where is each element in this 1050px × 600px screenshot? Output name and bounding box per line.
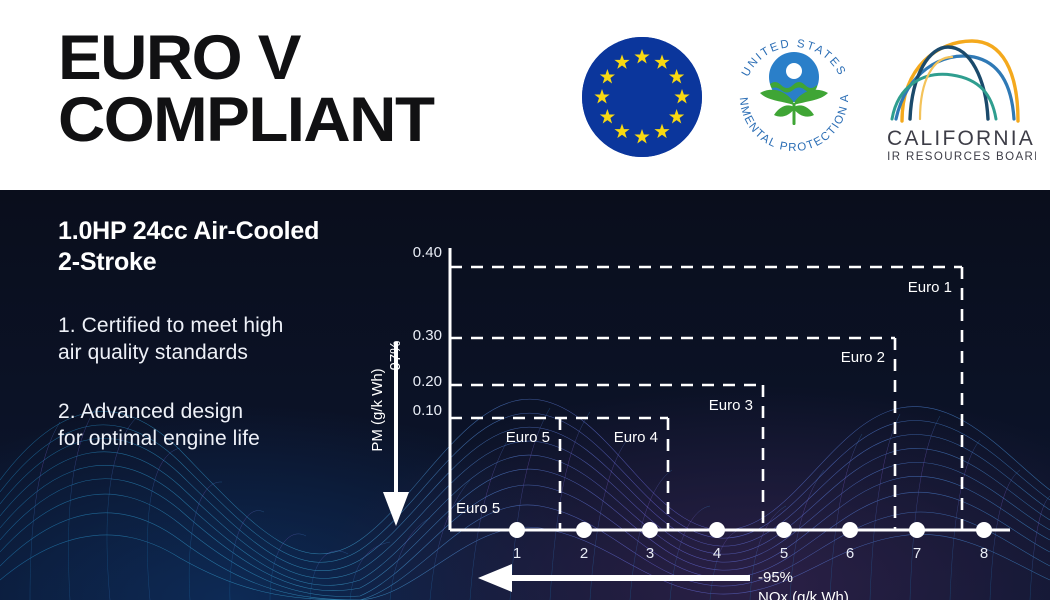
epa-logo: UNITED STATES ENVIRONMENTAL PROTECTION A…: [724, 27, 864, 167]
series-label-euro-1: Euro 1: [908, 279, 952, 296]
x-tick-5: 6: [846, 545, 854, 562]
certification-logo-row: UNITED STATES ENVIRONMENTAL PROTECTION A…: [582, 22, 1036, 172]
series-label-euro-2: Euro 2: [841, 349, 885, 366]
y-tick-labels: 0.40 0.30 0.20 0.10: [413, 244, 442, 419]
header-band: EURO V COMPLIANT: [0, 0, 1050, 190]
series-euro-5: Euro 5: [506, 418, 560, 530]
x-tick-labels: 1 2 3 4 5 6 7 8: [513, 545, 988, 562]
series-euro-1: Euro 1: [450, 267, 962, 530]
y-tick-2: 0.20: [413, 373, 442, 390]
carb-line2: AIR RESOURCES BOARD: [886, 151, 1036, 163]
series-label-euro-5-baseline: Euro 5: [456, 500, 500, 517]
x-reduction-label: -95%: [758, 569, 793, 586]
emissions-step-chart: 0.40 0.30 0.20 0.10 PM (g/k Wh) -97% Eur…: [360, 230, 1040, 590]
page-title: EURO V COMPLIANT: [58, 28, 433, 151]
x-tick-3: 4: [713, 545, 721, 562]
series-label-euro-5: Euro 5: [506, 429, 550, 446]
x-axis-title: NOx (g/k Wh): [758, 589, 849, 600]
content-panel: 1.0HP 24cc Air-Cooled 2-Stroke 1. Certif…: [0, 190, 1050, 600]
feature-bullet-2: 2. Advanced design for optimal engine li…: [58, 398, 260, 453]
feature-bullet-1: 1. Certified to meet high air quality st…: [58, 312, 283, 367]
product-subtitle: 1.0HP 24cc Air-Cooled 2-Stroke: [58, 216, 319, 277]
infographic-root: EURO V COMPLIANT: [0, 0, 1050, 600]
carb-line1: CALIFORNIA: [887, 127, 1035, 150]
x-tick-1: 2: [580, 545, 588, 562]
y-tick-1: 0.30: [413, 327, 442, 344]
x-tick-7: 8: [980, 545, 988, 562]
x-tick-0: 1: [513, 545, 521, 562]
x-tick-6: 7: [913, 545, 921, 562]
carb-logo: CALIFORNIA AIR RESOURCES BOARD: [886, 27, 1036, 167]
y-tick-3: 0.10: [413, 402, 442, 419]
x-tick-4: 5: [780, 545, 788, 562]
series-label-euro-3: Euro 3: [709, 397, 753, 414]
series-label-euro-4: Euro 4: [614, 429, 658, 446]
eu-flag-logo: [582, 37, 702, 157]
x-reduction-arrow: [478, 564, 750, 592]
y-axis-title: PM (g/k Wh): [369, 368, 386, 451]
y-tick-0: 0.40: [413, 244, 442, 261]
x-tick-2: 3: [646, 545, 654, 562]
